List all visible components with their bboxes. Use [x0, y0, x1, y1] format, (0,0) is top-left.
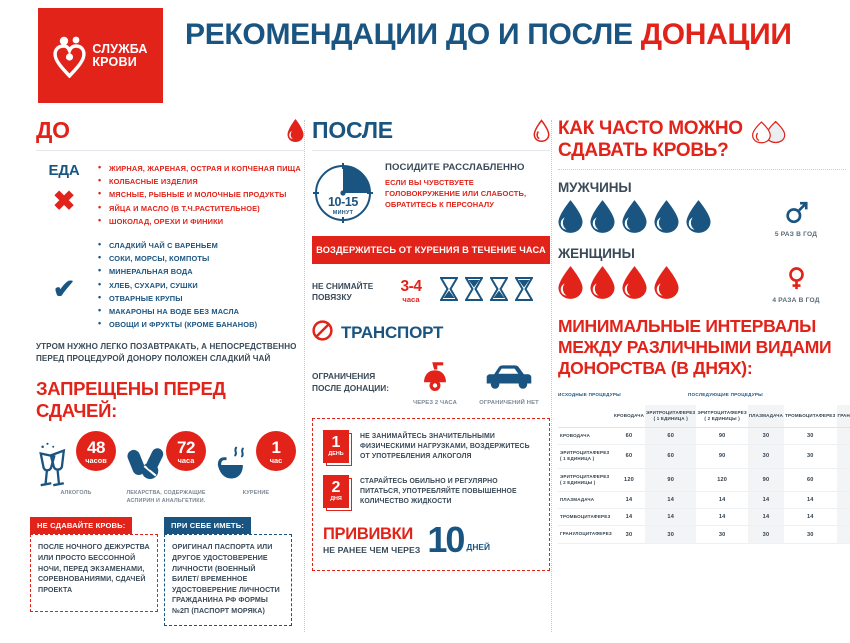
table-head: КРОВОДАЧА ЭРИТРОЦИТАФЕРЕЗ ( 1 ЕДИНИЦА ) … [558, 405, 850, 428]
box-body-text: ОРИГИНАЛ ПАСПОРТА ИЛИ ДРУГОЕ УДОСТОВЕРЕН… [164, 534, 292, 625]
table-cell: 30 [748, 445, 784, 468]
box-tab-label: ПРИ СЕБЕ ИМЕТЬ: [164, 517, 251, 534]
food-label: ЕДА [36, 162, 92, 179]
before-heading: ДО [36, 118, 70, 142]
table-cell: 14 [748, 492, 784, 509]
ban-item-smoking: 1 час КУРЕНИЕ [212, 435, 300, 498]
row-header: ЭРИТРОЦИТАФЕРЕЗ ( 2 ЕДИНИЦЫ ) [558, 468, 613, 491]
box-body-text: ПОСЛЕ НОЧНОГО ДЕЖУРСТВА ИЛИ ПРОСТО БЕССО… [30, 534, 158, 612]
page-title: РЕКОМЕНДАЦИИ ДО И ПОСЛЕ ДОНАЦИИ [185, 18, 792, 52]
column-before: ДО ЕДА ✖ ✔ ЖИРНАЯ, ЖАРЕНАЯ, ОСТРАЯ И КОП… [36, 118, 304, 629]
logo-block: СЛУЖБА КРОВИ [38, 8, 163, 103]
blood-drop-blue-icon [654, 200, 679, 238]
women-frequency-block: ЖЕНЩИНЫ 4 РАЗА В ГО [558, 246, 846, 304]
badge-unit: час [270, 457, 283, 464]
hourglass-icon [515, 277, 533, 306]
list-item: ОТВАРНЫЕ КРУПЫ [98, 292, 304, 305]
post-donation-steps-box: 1 ДЕНЬ НЕ ЗАНИМАЙТЕСЬ ЗНАЧИТЕЛЬНЫМИ ФИЗИ… [312, 418, 550, 571]
blood-drop-blue-icon [558, 200, 583, 238]
bandage-label: НЕ СНИМАЙТЕ ПОВЯЗКУ [312, 281, 388, 303]
logo-text: СЛУЖБА КРОВИ [92, 43, 147, 69]
frequency-heading-line1: КАК ЧАСТО МОЖНО [558, 118, 743, 139]
frequency-heading-line2: СДАВАТЬ КРОВЬ? [558, 140, 728, 161]
after-heading-row: ПОСЛЕ [312, 118, 550, 142]
ban-title: ЗАПРЕЩЕНЫ ПЕРЕД СДАЧЕЙ: [36, 378, 304, 422]
badge-number: 72 [177, 439, 195, 456]
table-cell: 14 [645, 492, 696, 509]
table-cell: 90 [696, 428, 747, 445]
clock-unit: МИНУТ [312, 211, 374, 216]
vaccination-row: ПРИВИВКИ НЕ РАНЕЕ ЧЕМ ЧЕРЕЗ 10 ДНЕЙ [323, 522, 539, 558]
badge-number: 48 [87, 439, 105, 456]
table-cell: 120 [613, 468, 645, 491]
divider [312, 150, 550, 151]
table-row-axis-label: ИСХОДНЫЕ ПРОЦЕДУРЫ [558, 392, 621, 397]
two-drops-outline-icon [751, 118, 787, 150]
table-col-axis-label: ПОСЛЕДУЮЩИЕ ПРОЦЕДУРЫ [688, 392, 763, 397]
table-cell: 60 [784, 468, 836, 491]
badge-48-hours: 48 часов [76, 431, 116, 471]
hourglass-icon [465, 277, 483, 306]
bandage-section: НЕ СНИМАЙТЕ ПОВЯЗКУ 3-4 часа [312, 277, 550, 306]
column-frequency: КАК ЧАСТО МОЖНО СДАВАТЬ КРОВЬ? МУЖЧИНЫ [558, 118, 846, 544]
relax-title: ПОСИДИТЕ РАССЛАБЛЕННО [385, 162, 550, 173]
relax-note: ЕСЛИ ВЫ ЧУВСТВУЕТЕ ГОЛОВОКРУЖЕНИЕ ИЛИ СЛ… [385, 177, 550, 210]
hourglass-group [440, 277, 533, 306]
table-cell: 14 [837, 492, 850, 509]
step-row: 1 ДЕНЬ НЕ ЗАНИМАЙТЕСЬ ЗНАЧИТЕЛЬНЫМИ ФИЗИ… [323, 430, 539, 463]
bandage-value: 3-4 [401, 278, 422, 295]
row-header: ПЛАЗМАДАЧА [558, 492, 613, 509]
men-label: МУЖЧИНЫ [558, 180, 846, 195]
transport-title: ТРАНСПОРТ [341, 323, 443, 343]
bring-documents-box: ПРИ СЕБЕ ИМЕТЬ: ОРИГИНАЛ ПАСПОРТА ИЛИ ДР… [164, 515, 292, 625]
table-body: КРОВОДАЧА 60 60 90 30 30 30 ЭРИТРОЦИТАФЕ… [558, 428, 850, 544]
row-header: ТРОМБОЦИТАФЕРЕЗ [558, 509, 613, 526]
transport-label: ОГРАНИЧЕНИЯ ПОСЛЕ ДОНАЦИИ: [312, 371, 398, 406]
frequency-heading-row: КАК ЧАСТО МОЖНО СДАВАТЬ КРОВЬ? [558, 118, 846, 162]
men-frequency-info: 5 РАЗ В ГОД [754, 201, 838, 238]
row-header: ЭРИТРОЦИТАФЕРЕЗ ( 1 ЕДИНИЦА ) [558, 445, 613, 468]
table-cell: 30 [613, 526, 645, 543]
forbidden-food-list: ЖИРНАЯ, ЖАРЕНАЯ, ОСТРАЯ И КОПЧЕНАЯ ПИЩА … [98, 162, 304, 228]
list-item: ЯЙЦА И МАСЛО (В Т.Ч.РАСТИТЕЛЬНОЕ) [98, 202, 304, 215]
ban-item-medication: 72 часа ЛЕКАРСТВА, СОДЕРЖАЩИЕ АСПИРИН И … [122, 435, 210, 505]
list-item: СОКИ, МОРСЫ, КОМПОТЫ [98, 252, 304, 265]
logo-line-1: СЛУЖБА [92, 42, 147, 56]
clock-icon: 10-15 МИНУТ [312, 162, 374, 224]
badge-72-hours: 72 часа [166, 431, 206, 471]
vaccination-days: 10 [427, 522, 463, 558]
column-divider-2 [551, 120, 552, 632]
list-item: МИНЕРАЛЬНАЯ ВОДА [98, 265, 304, 278]
list-item: ОВОЩИ И ФРУКТЫ (КРОМЕ БАНАНОВ) [98, 318, 304, 331]
badge-1-hour: 1 час [256, 431, 296, 471]
ban-caption: АЛКОГОЛЬ [32, 490, 120, 498]
column-header: КРОВОДАЧА [613, 405, 645, 428]
table-cell: 30 [837, 526, 850, 543]
table-cell: 60 [645, 445, 696, 468]
table-cell: 30 [784, 526, 836, 543]
transport-heading-row: ТРАНСПОРТ [312, 320, 550, 346]
transport-restrictions: ОГРАНИЧЕНИЯ ПОСЛЕ ДОНАЦИИ: ЧЕРЕЗ 2 ЧАСА [312, 358, 550, 406]
table-cell: 30 [645, 526, 696, 543]
table-cell: 60 [613, 445, 645, 468]
vaccination-unit: ДНЕЙ [466, 542, 490, 552]
blood-drop-red-icon [654, 266, 679, 304]
table-cell: 60 [837, 468, 850, 491]
table-cell: 14 [837, 509, 850, 526]
women-frequency-text: 4 РАЗА В ГОД [754, 297, 838, 304]
bandage-unit: часа [388, 296, 434, 304]
ban-caption: ЛЕКАРСТВА, СОДЕРЖАЩИЕ АСПИРИН И АНАЛЬГЕТ… [122, 490, 210, 505]
ban-items-row: 48 часов АЛКОГОЛЬ [36, 435, 304, 513]
table-cell: 90 [696, 445, 747, 468]
food-section: ЕДА ✖ ✔ ЖИРНАЯ, ЖАРЕНАЯ, ОСТРАЯ И КОПЧЕН… [36, 162, 304, 331]
column-header: ЭРИТРОЦИТАФЕРЕЗ ( 1 ЕДИНИЦА ) [645, 405, 696, 428]
transport-item-car: ОГРАНИЧЕНИЙ НЕТ [472, 362, 546, 406]
badge-unit: часа [178, 457, 195, 464]
blood-drop-blue-icon [590, 200, 615, 238]
morning-note: УТРОМ НУЖНО ЛЕГКО ПОЗАВТРАКАТЬ, А НЕПОСР… [36, 341, 304, 364]
list-item: КОЛБАСНЫЕ ИЗДЕЛИЯ [98, 175, 304, 188]
relax-section: 10-15 МИНУТ ПОСИДИТЕ РАССЛАБЛЕННО ЕСЛИ В… [312, 162, 550, 224]
table-cell: 120 [696, 468, 747, 491]
table-cell: 14 [645, 509, 696, 526]
women-drops-group [558, 266, 754, 304]
badge-number: 1 [272, 439, 281, 456]
column-header: ТРОМБОЦИТАФЕРЕЗ [784, 405, 836, 428]
hourglass-icon [440, 277, 458, 306]
row-header: КРОВОДАЧА [558, 428, 613, 445]
table-row: ПЛАЗМАДАЧА 14 14 14 14 14 14 [558, 492, 850, 509]
step-number: 1 [332, 435, 341, 451]
vaccination-labels: ПРИВИВКИ НЕ РАНЕЕ ЧЕМ ЧЕРЕЗ [323, 525, 420, 555]
step-text: НЕ ЗАНИМАЙТЕСЬ ЗНАЧИТЕЛЬНЫМИ ФИЗИЧЕСКИМИ… [360, 430, 539, 462]
table-header-row: КРОВОДАЧА ЭРИТРОЦИТАФЕРЕЗ ( 1 ЕДИНИЦА ) … [558, 405, 850, 428]
do-not-donate-box: НЕ СДАВАЙТЕ КРОВЬ: ПОСЛЕ НОЧНОГО ДЕЖУРСТ… [30, 515, 158, 612]
table-cell: 14 [784, 509, 836, 526]
vaccination-subtitle: НЕ РАНЕЕ ЧЕМ ЧЕРЕЗ [323, 545, 420, 555]
women-label: ЖЕНЩИНЫ [558, 246, 846, 261]
list-item: СЛАДКИЙ ЧАЙ С ВАРЕНЬЕМ [98, 239, 304, 252]
step-number: 2 [332, 480, 341, 496]
divider [36, 150, 304, 151]
ban-item-alcohol: 48 часов АЛКОГОЛЬ [32, 435, 120, 498]
list-item: ШОКОЛАД, ОРЕХИ И ФИНИКИ [98, 215, 304, 228]
step-unit: ДНЯ [330, 497, 342, 502]
table-cell: 60 [645, 428, 696, 445]
transport-caption: ЧЕРЕЗ 2 ЧАСА [398, 400, 472, 406]
women-row: 4 РАЗА В ГОД [558, 266, 846, 304]
list-item: ЖИРНАЯ, ЖАРЕНАЯ, ОСТРАЯ И КОПЧЕНАЯ ПИЩА [98, 162, 304, 175]
table-cell: 30 [784, 445, 836, 468]
check-mark-icon: ✔ [36, 276, 92, 303]
ban-caption: КУРЕНИЕ [212, 490, 300, 498]
divider [558, 169, 846, 170]
blood-drop-red-icon [590, 266, 615, 304]
step-badge-1: 1 ДЕНЬ [323, 430, 350, 463]
blood-drop-icon [287, 119, 304, 142]
badge-unit: часов [85, 457, 107, 464]
table-cell: 14 [696, 492, 747, 509]
men-drops-group [558, 200, 754, 238]
frequency-heading: КАК ЧАСТО МОЖНО СДАВАТЬ КРОВЬ? [558, 118, 743, 162]
list-item: ХЛЕБ, СУХАРИ, СУШКИ [98, 279, 304, 292]
page-title-main: РЕКОМЕНДАЦИИ ДО И ПОСЛЕ [185, 18, 641, 51]
page-title-accent: ДОНАЦИИ [641, 18, 792, 51]
table-row: ТРОМБОЦИТАФЕРЕЗ 14 14 14 14 14 14 [558, 509, 850, 526]
men-frequency-text: 5 РАЗ В ГОД [754, 231, 838, 238]
car-icon [483, 379, 535, 396]
table-cell: 14 [784, 492, 836, 509]
column-divider-1 [304, 120, 305, 632]
info-boxes: НЕ СДАВАЙТЕ КРОВЬ: ПОСЛЕ НОЧНОГО ДЕЖУРСТ… [36, 515, 304, 629]
clock-label: 10-15 МИНУТ [312, 194, 374, 216]
table-cell: 30 [837, 445, 850, 468]
table-cell: 30 [837, 428, 850, 445]
table-cell: 14 [613, 509, 645, 526]
table-cell: 90 [748, 468, 784, 491]
interval-table: КРОВОДАЧА ЭРИТРОЦИТАФЕРЕЗ ( 1 ЕДИНИЦА ) … [558, 405, 850, 544]
table-row: КРОВОДАЧА 60 60 90 30 30 30 [558, 428, 850, 445]
vaccination-title: ПРИВИВКИ [323, 525, 420, 543]
row-header: ГРАНУЛОЦИТАФЕРЕЗ [558, 526, 613, 543]
table-row: ЭРИТРОЦИТАФЕРЕЗ ( 2 ЕДИНИЦЫ ) 120 90 120… [558, 468, 850, 491]
table-axis-captions: ИСХОДНЫЕ ПРОЦЕДУРЫ ПОСЛЕДУЮЩИЕ ПРОЦЕДУРЫ [558, 392, 846, 405]
blood-drop-blue-icon [686, 200, 711, 238]
list-item: МАКАРОНЫ НА ВОДЕ БЕЗ МАСЛА [98, 305, 304, 318]
column-after: ПОСЛЕ [312, 118, 550, 571]
blood-drop-outline-icon [533, 119, 550, 142]
column-header: ГРАНУЛОЦИТАФЕРЕЗ [837, 405, 850, 428]
blood-drop-blue-icon [622, 200, 647, 238]
interval-title: МИНИМАЛЬНЫЕ ИНТЕРВАЛЫ МЕЖДУ РАЗЛИЧНЫМИ В… [558, 316, 846, 379]
step-row: 2 ДНЯ СТАРАЙТЕСЬ ОБИЛЬНО И РЕГУЛЯРНО ПИТ… [323, 475, 539, 508]
men-frequency-block: МУЖЧИНЫ [558, 180, 846, 238]
table-cell: 30 [748, 526, 784, 543]
before-heading-row: ДО [36, 118, 304, 142]
table-cell: 14 [696, 509, 747, 526]
clock-value: 10-15 [328, 195, 358, 209]
transport-caption: ОГРАНИЧЕНИЙ НЕТ [472, 400, 546, 406]
cross-mark-icon: ✖ [36, 188, 92, 215]
logo-line-2: КРОВИ [92, 55, 137, 69]
women-frequency-info: 4 РАЗА В ГОД [754, 267, 838, 304]
allowed-food-list: СЛАДКИЙ ЧАЙ С ВАРЕНЬЕМ СОКИ, МОРСЫ, КОМП… [98, 239, 304, 331]
table-cell: 30 [696, 526, 747, 543]
table-cell: 90 [645, 468, 696, 491]
heart-donor-logo-icon [53, 34, 87, 78]
table-cell: 60 [613, 428, 645, 445]
table-cell: 30 [748, 428, 784, 445]
infographic-page: СЛУЖБА КРОВИ РЕКОМЕНДАЦИИ ДО И ПОСЛЕ ДОН… [0, 0, 850, 643]
male-symbol-icon [785, 211, 808, 228]
column-header: ЭРИТРОЦИТАФЕРЕЗ ( 2 ЕДИНИЦЫ ) [696, 405, 747, 428]
list-item: МЯСНЫЕ, РЫБНЫЕ И МОЛОЧНЫЕ ПРОДУКТЫ [98, 188, 304, 201]
table-corner-cell [558, 405, 613, 428]
step-unit: ДЕНЬ [328, 452, 343, 457]
step-text: СТАРАЙТЕСЬ ОБИЛЬНО И РЕГУЛЯРНО ПИТАТЬСЯ,… [360, 475, 539, 507]
table-row: ЭРИТРОЦИТАФЕРЕЗ ( 1 ЕДИНИЦА ) 60 60 90 3… [558, 445, 850, 468]
column-header: ПЛАЗМАДАЧА [748, 405, 784, 428]
after-heading: ПОСЛЕ [312, 118, 393, 142]
transport-item-scooter: ЧЕРЕЗ 2 ЧАСА [398, 358, 472, 406]
table-cell: 14 [748, 509, 784, 526]
no-entry-icon [312, 320, 333, 346]
blood-drop-red-icon [622, 266, 647, 304]
bandage-duration: 3-4 часа [388, 279, 434, 304]
men-row: 5 РАЗ В ГОД [558, 200, 846, 238]
blood-drop-red-icon [558, 266, 583, 304]
step-badge-2: 2 ДНЯ [323, 475, 350, 508]
table-cell: 30 [784, 428, 836, 445]
hourglass-icon [490, 277, 508, 306]
female-symbol-icon [785, 277, 808, 294]
table-cell: 14 [613, 492, 645, 509]
box-tab-label: НЕ СДАВАЙТЕ КРОВЬ: [30, 517, 132, 534]
food-marks: ЕДА ✖ ✔ [36, 162, 92, 303]
smoking-banner: ВОЗДЕРЖИТЕСЬ ОТ КУРЕНИЯ В ТЕЧЕНИЕ ЧАСА [312, 236, 550, 264]
scooter-icon [414, 379, 456, 396]
table-row: ГРАНУЛОЦИТАФЕРЕЗ 30 30 30 30 30 30 [558, 526, 850, 543]
